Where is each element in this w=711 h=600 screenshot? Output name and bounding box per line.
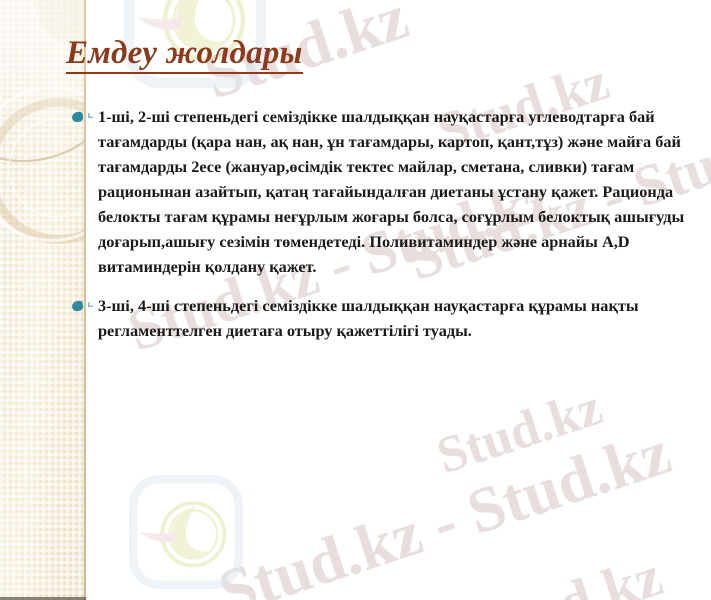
slide-title: Емдеу жолдары [66,36,303,74]
list-item-text: 3-ші, 4-ші степеньдегі семіздікке шалдық… [98,293,697,343]
list-item: 3-ші, 4-ші степеньдегі семіздікке шалдық… [72,293,697,343]
diamond-bullet-icon [72,301,94,311]
diamond-bullet-icon [72,112,94,122]
bullet-list: 1-ші, 2-ші степеньдегі семіздікке шалдық… [72,104,697,357]
list-item-text: 1-ші, 2-ші степеньдегі семіздікке шалдық… [98,104,697,279]
list-item: 1-ші, 2-ші степеньдегі семіздікке шалдық… [72,104,697,279]
slide-content: Емдеу жолдары 1-ші, 2-ші степеньдегі сем… [88,0,711,600]
presentation-slide: Stud.kz Stud.kz Stud.kz - Stud.kz Stud.k… [0,0,711,600]
